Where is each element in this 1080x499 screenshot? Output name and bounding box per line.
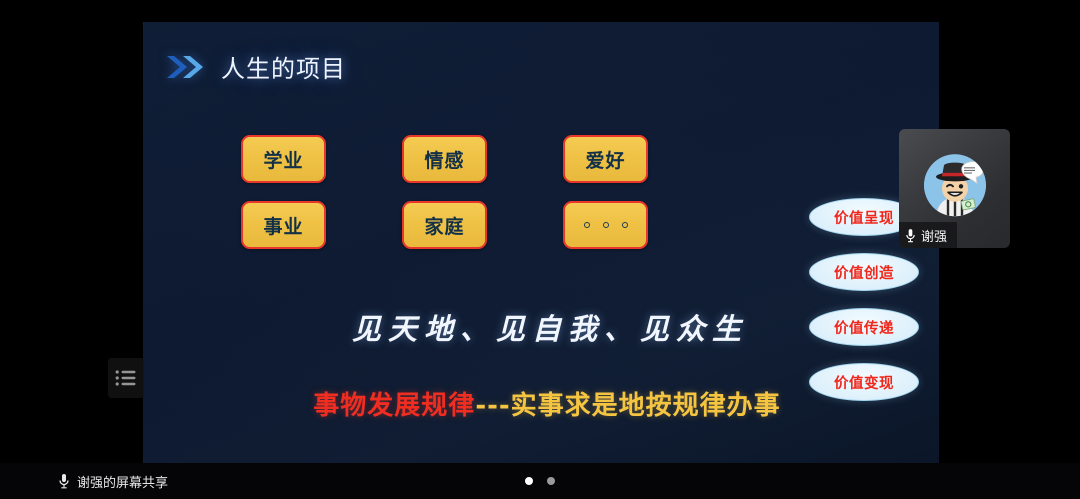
bottom-bar: 谢强的屏幕共享 <box>0 463 1080 499</box>
participant-name: 谢强 <box>921 226 947 245</box>
dot-glyph <box>622 222 628 228</box>
project-box: 家庭 <box>402 201 487 249</box>
headline-gold-part: ---实事求是地按规律办事 <box>475 391 780 421</box>
project-box: 情感 <box>402 135 487 183</box>
calligraphy-line: 见天地、见自我、见众生 <box>143 306 939 348</box>
screen-share-viewer: 人生的项目 学业 情感 爱好 事业 家庭 价值呈现 价值创造 <box>0 0 1080 499</box>
participant-video-tile[interactable]: 谢强 <box>899 129 1010 248</box>
shared-slide: 人生的项目 学业 情感 爱好 事业 家庭 价值呈现 价值创造 <box>143 22 939 463</box>
project-box: 爱好 <box>563 135 648 183</box>
participant-name-chip: 谢强 <box>899 222 957 248</box>
slide-title-row: 人生的项目 <box>165 49 346 84</box>
project-box: 事业 <box>241 201 326 249</box>
page-indicator[interactable] <box>525 477 555 485</box>
life-projects-row: 事业 家庭 <box>241 201 648 249</box>
value-ellipse: 价值创造 <box>809 253 919 291</box>
list-menu-icon <box>115 369 137 387</box>
screen-share-status: 谢强的屏幕共享 <box>58 472 168 491</box>
headline-red-part: 事物发展规律 <box>313 391 475 421</box>
microphone-icon <box>58 473 70 489</box>
page-dot-inactive[interactable] <box>547 477 555 485</box>
share-status-label: 谢强的屏幕共享 <box>77 472 168 491</box>
project-box: 学业 <box>241 135 326 183</box>
dot-glyph <box>603 222 609 228</box>
page-title: 人生的项目 <box>221 49 346 84</box>
page-dot-active[interactable] <box>525 477 533 485</box>
life-projects-grid: 学业 情感 爱好 事业 家庭 <box>241 135 648 267</box>
microphone-icon <box>905 228 916 243</box>
avatar <box>924 154 986 216</box>
list-menu-button[interactable] <box>108 358 144 398</box>
double-chevron-right-icon <box>165 54 207 80</box>
headline-line: 事物发展规律---实事求是地按规律办事 <box>143 385 939 422</box>
project-box-ellipsis <box>563 201 648 249</box>
life-projects-row: 学业 情感 爱好 <box>241 135 648 183</box>
cartoon-avatar-icon <box>924 154 986 216</box>
dot-glyph <box>584 222 590 228</box>
